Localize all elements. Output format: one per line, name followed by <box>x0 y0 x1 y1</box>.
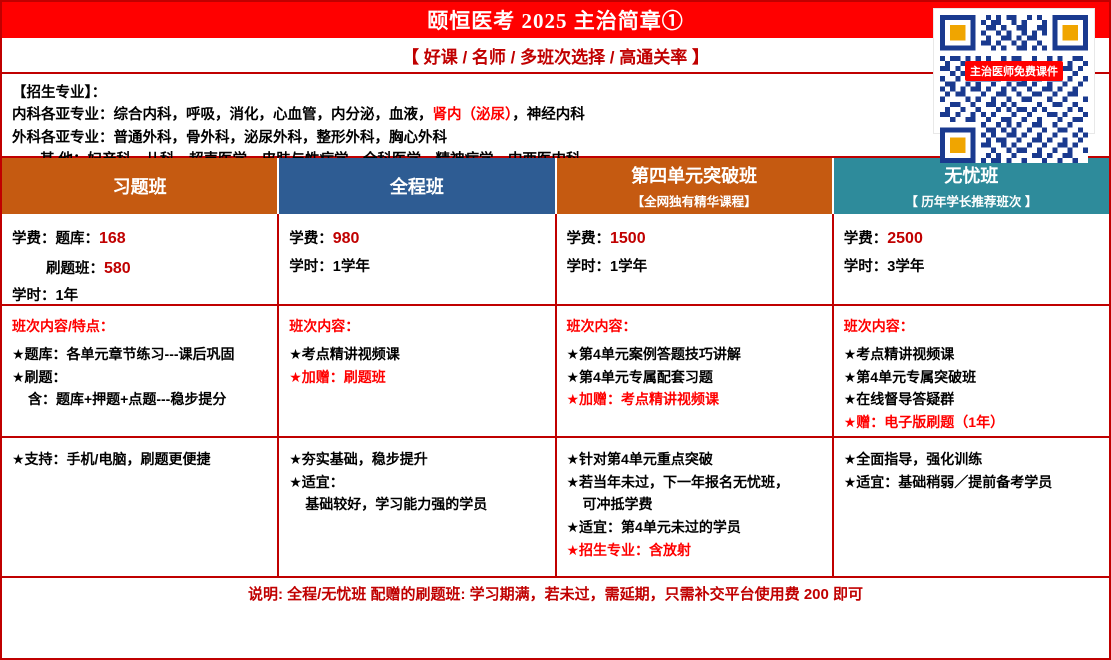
fee-line: 刷题班：580 <box>46 254 267 284</box>
fee-label: 学时：1学年 <box>289 259 370 275</box>
course-header-title: 第四单元突破班 <box>631 162 757 188</box>
course-fee-block: 学费：980学时：1学年 <box>279 214 554 306</box>
majors-surgery-text: 普通外科，骨外科，泌尿外科，整形外科，胸心外科 <box>114 130 448 146</box>
course-header-subtitle: 【全网独有精华课程】 <box>632 191 757 210</box>
fee-label: 学费：题库： <box>12 231 99 247</box>
course-column-1: 学费：题库：168刷题班：580学时：1年班次内容/特点：★题库：各单元章节练习… <box>2 214 279 576</box>
fee-label: 学费： <box>567 231 611 247</box>
course-feature-block: ★针对第4单元重点突破★若当年未过，下一年报名无忧班，可冲抵学费★适宜：第4单元… <box>557 438 832 576</box>
fee-value: 168 <box>99 230 126 247</box>
course-fee-block: 学费：题库：168刷题班：580学时：1年 <box>2 214 277 306</box>
course-feature-item: ★招生专业：含放射 <box>567 539 822 562</box>
fee-line: 学时：1学年 <box>567 254 822 281</box>
course-content-title: 班次内容/特点： <box>12 316 267 336</box>
course-columns-header: 习题班全程班第四单元突破班【全网独有精华课程】无忧班【 历年学长推荐班次 】 <box>2 158 1109 214</box>
course-content-item: ★刷题： <box>12 366 267 389</box>
course-content-item: 含：题库+押题+点题---稳步提分 <box>28 388 267 411</box>
fee-value: 580 <box>104 260 131 277</box>
course-feature-item: ★若当年未过，下一年报名无忧班， <box>567 471 822 494</box>
course-content-block: 班次内容：★考点精讲视频课★第4单元专属突破班★在线督导答疑群★赠：电子版刷题（… <box>834 306 1109 438</box>
course-header-title: 无忧班 <box>944 162 998 188</box>
fee-label: 学时：1年 <box>12 288 78 304</box>
fee-label: 学时：3学年 <box>844 259 925 275</box>
course-content-item: ★题库：各单元章节练习---课后巩固 <box>12 343 267 366</box>
course-content-item: ★在线督导答疑群 <box>844 388 1099 411</box>
fee-label: 刷题班： <box>46 261 104 277</box>
majors-internal-highlight: 肾内（泌尿） <box>433 107 513 123</box>
fee-label: 学费： <box>289 231 333 247</box>
course-feature-item: ★支持：手机/电脑，刷题更便捷 <box>12 448 267 471</box>
course-column-2: 学费：980学时：1学年班次内容：★考点精讲视频课★加赠：刷题班★夯实基础，稳步… <box>279 214 556 576</box>
majors-internal-text-b: ，神经内科 <box>512 107 585 123</box>
course-header-1[interactable]: 习题班 <box>2 158 279 214</box>
course-column-4: 学费：2500学时：3学年班次内容：★考点精讲视频课★第4单元专属突破班★在线督… <box>834 214 1109 576</box>
course-content-item: ★考点精讲视频课 <box>844 343 1099 366</box>
qr-label: 主治医师免费课件 <box>965 61 1063 81</box>
course-feature-item: 可冲抵学费 <box>583 493 822 516</box>
course-content-item: ★加赠：刷题班 <box>289 366 544 389</box>
fee-value: 1500 <box>610 230 646 247</box>
fee-line: 学时：1学年 <box>289 254 544 281</box>
majors-internal-label: 内科各亚专业： <box>12 107 114 123</box>
course-content-block: 班次内容：★第4单元案例答题技巧讲解★第4单元专属配套习题★加赠：考点精讲视频课 <box>557 306 832 438</box>
course-header-2[interactable]: 全程班 <box>279 158 556 214</box>
course-header-3[interactable]: 第四单元突破班【全网独有精华课程】 <box>557 158 834 214</box>
course-content-item: ★赠：电子版刷题（1年） <box>844 411 1099 434</box>
fee-line: 学费：2500 <box>844 224 1099 254</box>
course-feature-item: ★全面指导，强化训练 <box>844 448 1099 471</box>
course-content-title: 班次内容： <box>289 316 544 336</box>
course-feature-block: ★支持：手机/电脑，刷题更便捷 <box>2 438 277 576</box>
course-fee-block: 学费：2500学时：3学年 <box>834 214 1109 306</box>
fee-line: 学费：1500 <box>567 224 822 254</box>
course-content-item: ★第4单元专属配套习题 <box>567 366 822 389</box>
course-content-title: 班次内容： <box>844 316 1099 336</box>
fee-line: 学时：3学年 <box>844 254 1099 281</box>
course-content-item: ★加赠：考点精讲视频课 <box>567 388 822 411</box>
fee-line: 学费：980 <box>289 224 544 254</box>
course-columns-body: 学费：题库：168刷题班：580学时：1年班次内容/特点：★题库：各单元章节练习… <box>2 214 1109 576</box>
fee-label: 学费： <box>844 231 888 247</box>
course-content-block: 班次内容：★考点精讲视频课★加赠：刷题班 <box>279 306 554 438</box>
course-fee-block: 学费：1500学时：1学年 <box>557 214 832 306</box>
course-header-subtitle: 【 历年学长推荐班次 】 <box>905 191 1037 210</box>
course-content-item: ★第4单元案例答题技巧讲解 <box>567 343 822 366</box>
brochure-page: 颐恒医考 2025 主治简章① 【 好课 / 名师 / 多班次选择 / 高通关率… <box>0 0 1111 660</box>
course-feature-item: ★适宜：第4单元未过的学员 <box>567 516 822 539</box>
fee-value: 2500 <box>887 230 923 247</box>
majors-surgery-label: 外科各亚专业： <box>12 130 114 146</box>
fee-value: 980 <box>333 230 360 247</box>
course-content-block: 班次内容/特点：★题库：各单元章节练习---课后巩固★刷题：含：题库+押题+点题… <box>2 306 277 438</box>
course-content-item: ★第4单元专属突破班 <box>844 366 1099 389</box>
course-feature-block: ★夯实基础，稳步提升★适宜：基础较好，学习能力强的学员 <box>279 438 554 576</box>
course-feature-item: ★夯实基础，稳步提升 <box>289 448 544 471</box>
course-feature-item: 基础较好，学习能力强的学员 <box>305 493 544 516</box>
majors-internal-text-a: 综合内科，呼吸，消化，心血管，内分泌，血液， <box>114 107 433 123</box>
course-feature-item: ★针对第4单元重点突破 <box>567 448 822 471</box>
course-feature-item: ★适宜：基础稍弱／提前备考学员 <box>844 471 1099 494</box>
course-header-title: 全程班 <box>390 173 444 199</box>
footer-note: 说明: 全程/无忧班 配赠的刷题班: 学习期满，若未过，需延期，只需补交平台使用… <box>2 576 1109 608</box>
course-column-3: 学费：1500学时：1学年班次内容：★第4单元案例答题技巧讲解★第4单元专属配套… <box>557 214 834 576</box>
fee-line: 学费：题库：168 <box>12 224 267 254</box>
course-feature-block: ★全面指导，强化训练★适宜：基础稍弱／提前备考学员 <box>834 438 1109 576</box>
fee-label: 学时：1学年 <box>567 259 648 275</box>
course-content-item: ★考点精讲视频课 <box>289 343 544 366</box>
course-header-title: 习题班 <box>113 173 167 199</box>
qr-code-icon <box>940 15 1088 163</box>
qr-code-box[interactable]: 主治医师免费课件 <box>933 8 1095 134</box>
course-content-title: 班次内容： <box>567 316 822 336</box>
course-feature-item: ★适宜： <box>289 471 544 494</box>
course-header-4[interactable]: 无忧班【 历年学长推荐班次 】 <box>834 158 1109 214</box>
